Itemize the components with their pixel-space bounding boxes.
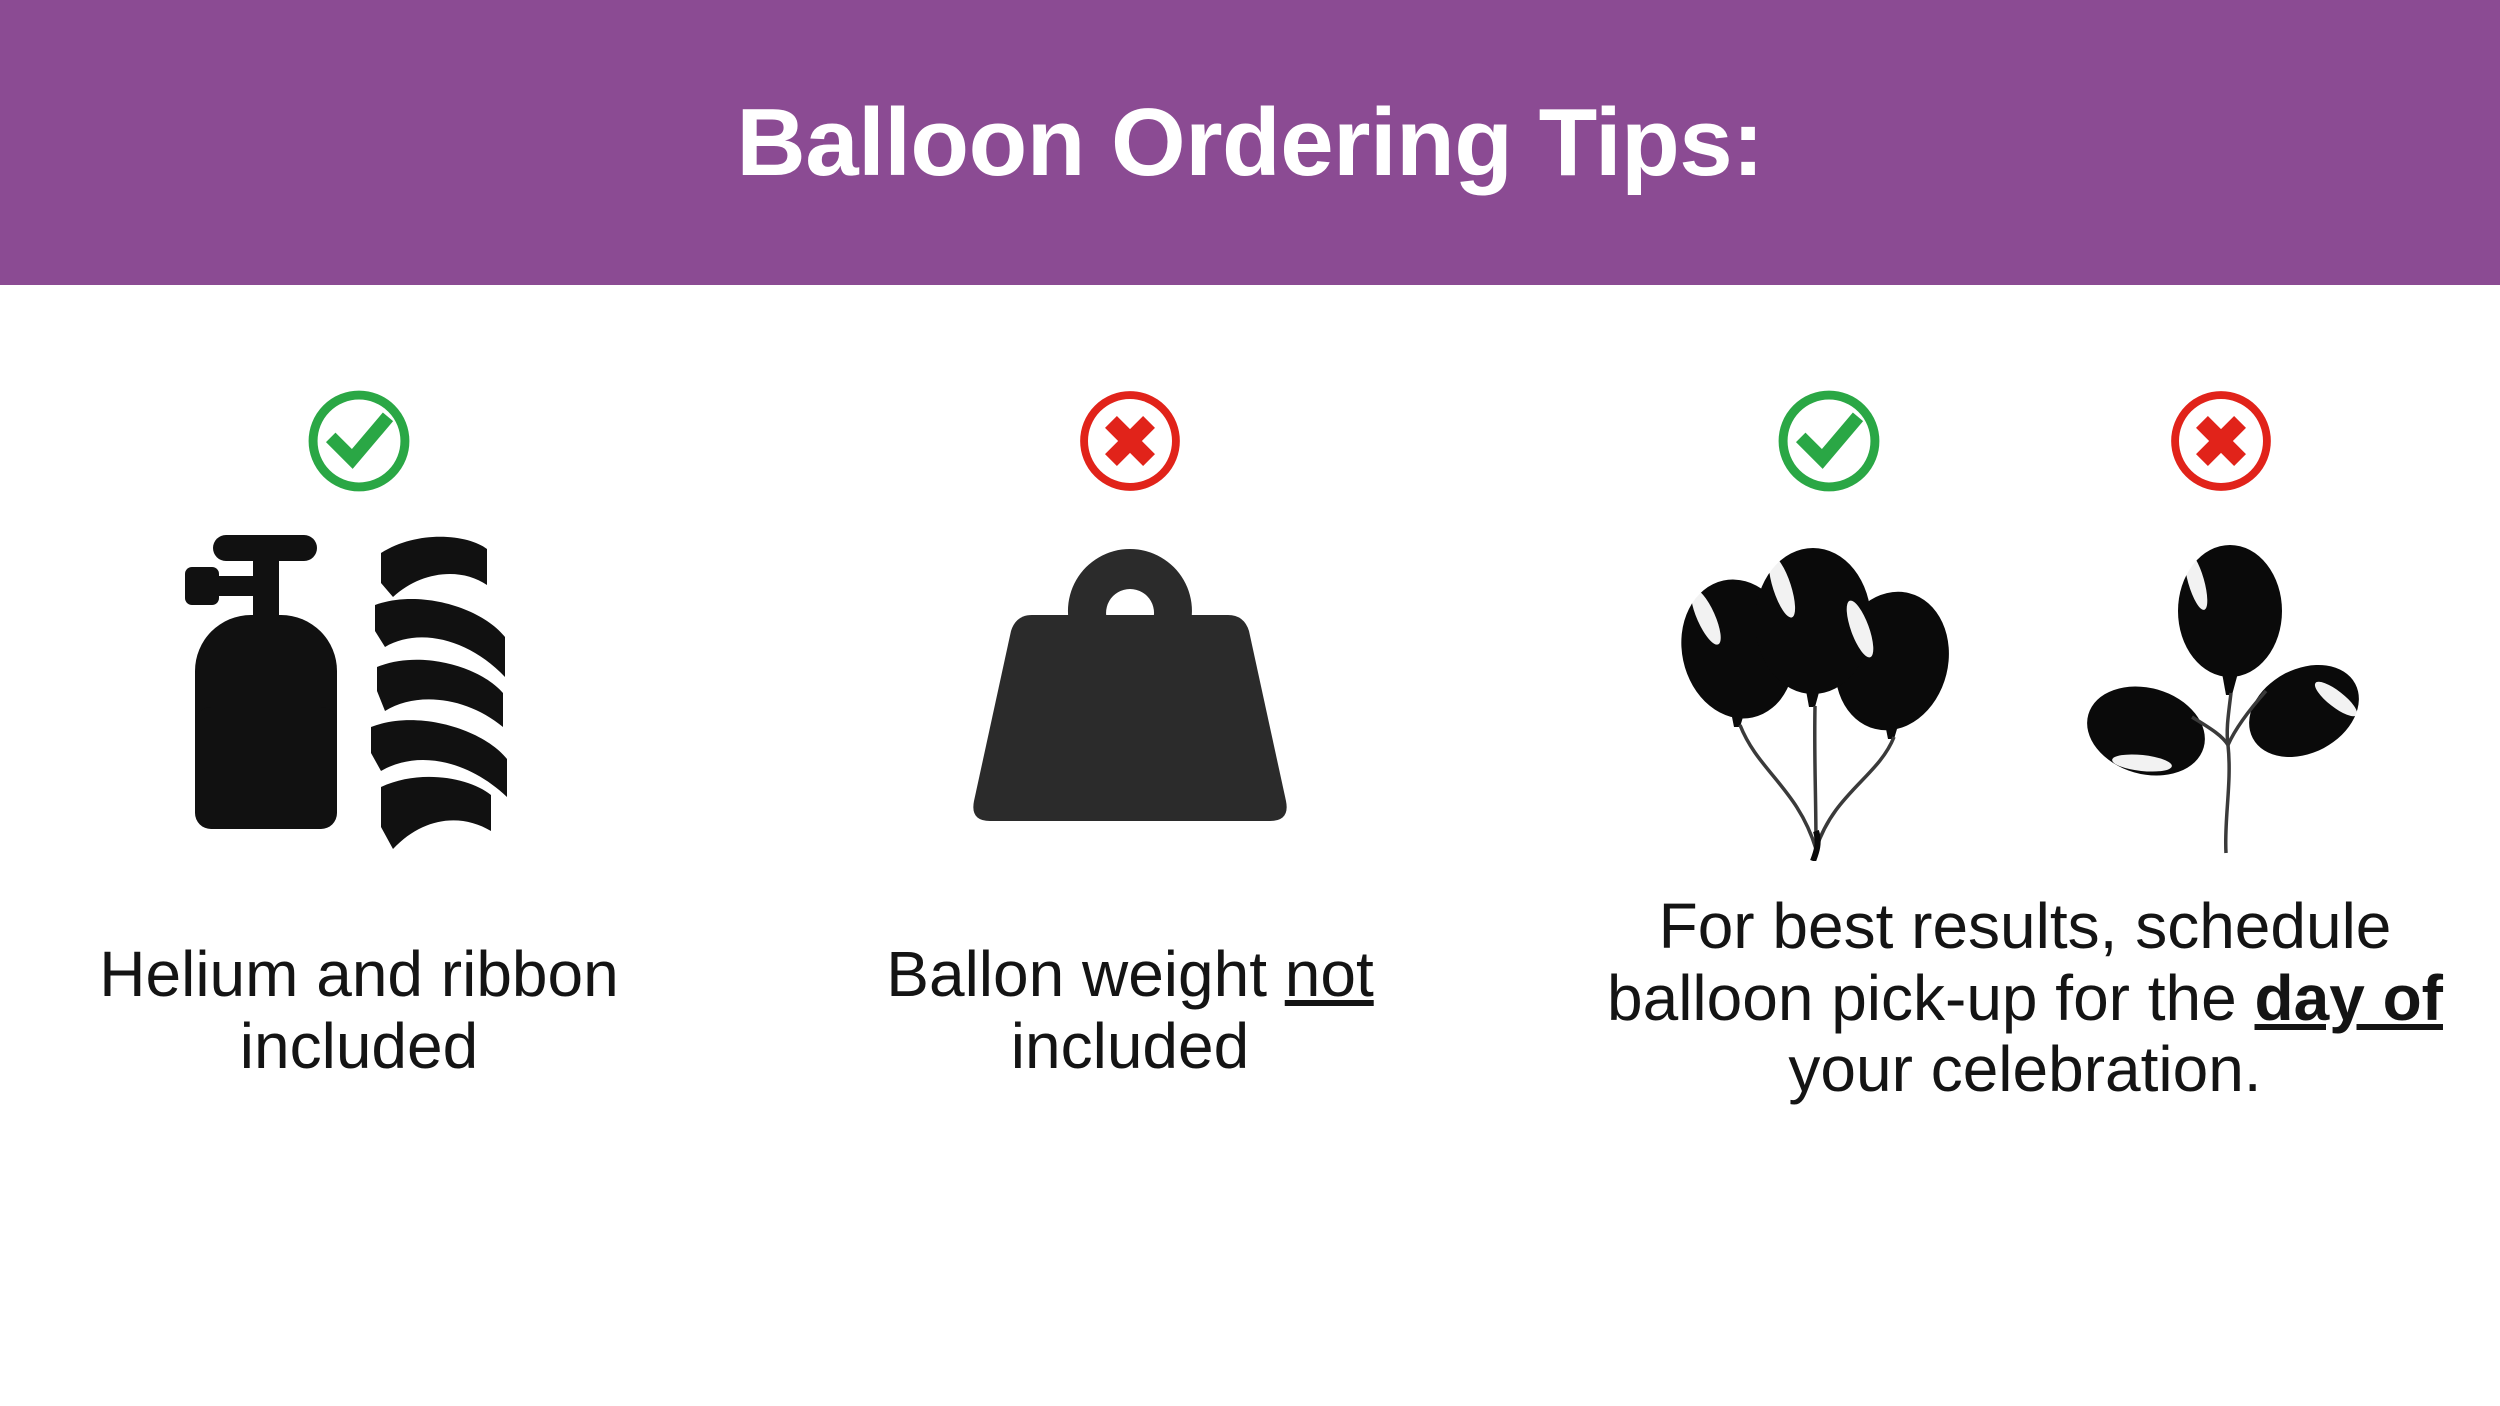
- tips-row: Helium and ribbon included: [0, 285, 2500, 1406]
- artwork-row: [1560, 531, 2490, 861]
- cross-circle-icon: [1074, 385, 1186, 497]
- helium-tank-and-ribbon-art: [169, 531, 549, 861]
- caption-segment-not: not: [1285, 938, 1374, 1010]
- caption-segment-3: included: [1011, 1010, 1249, 1082]
- balloon-ordering-tips-poster: Balloon Ordering Tips:: [0, 0, 2500, 1406]
- tip-column-pickup-timing: For best results, schedule balloon pick-…: [1560, 285, 2500, 1106]
- page-title: Balloon Ordering Tips:: [736, 95, 1763, 191]
- caption-segment-1: Ballon weight: [886, 938, 1284, 1010]
- tip-caption-helium-ribbon: Helium and ribbon included: [49, 939, 669, 1082]
- helium-tank-icon: [185, 535, 337, 829]
- tip-caption-balloon-weight: Ballon weight not included: [800, 939, 1460, 1082]
- weight-icon: [960, 543, 1300, 843]
- caption-segment-3: your celebration.: [1788, 1033, 2261, 1105]
- caption-text: Helium and ribbon included: [99, 938, 618, 1082]
- balloons-deflated-icon: [2080, 531, 2380, 861]
- caption-segment-day-of: day of: [2255, 962, 2443, 1034]
- check-circle-icon: [1773, 385, 1885, 497]
- tip-caption-pickup-timing: For best results, schedule balloon pick-…: [1585, 891, 2465, 1106]
- tip-column-helium-ribbon: Helium and ribbon included: [0, 285, 700, 1082]
- status-icon-row: [760, 385, 1500, 525]
- cross-circle-icon: [2165, 385, 2277, 497]
- status-icon-row: [18, 385, 700, 525]
- check-circle-icon: [303, 385, 415, 497]
- artwork-row: [18, 531, 700, 861]
- status-icon-row: [1560, 385, 2490, 525]
- curly-ribbon-icon: [371, 537, 507, 849]
- header-band: Balloon Ordering Tips:: [0, 0, 2500, 285]
- balloons-inflated-icon: [1670, 531, 1970, 861]
- artwork-row: [760, 531, 1500, 861]
- tip-column-balloon-weight: Ballon weight not included: [760, 285, 1500, 1082]
